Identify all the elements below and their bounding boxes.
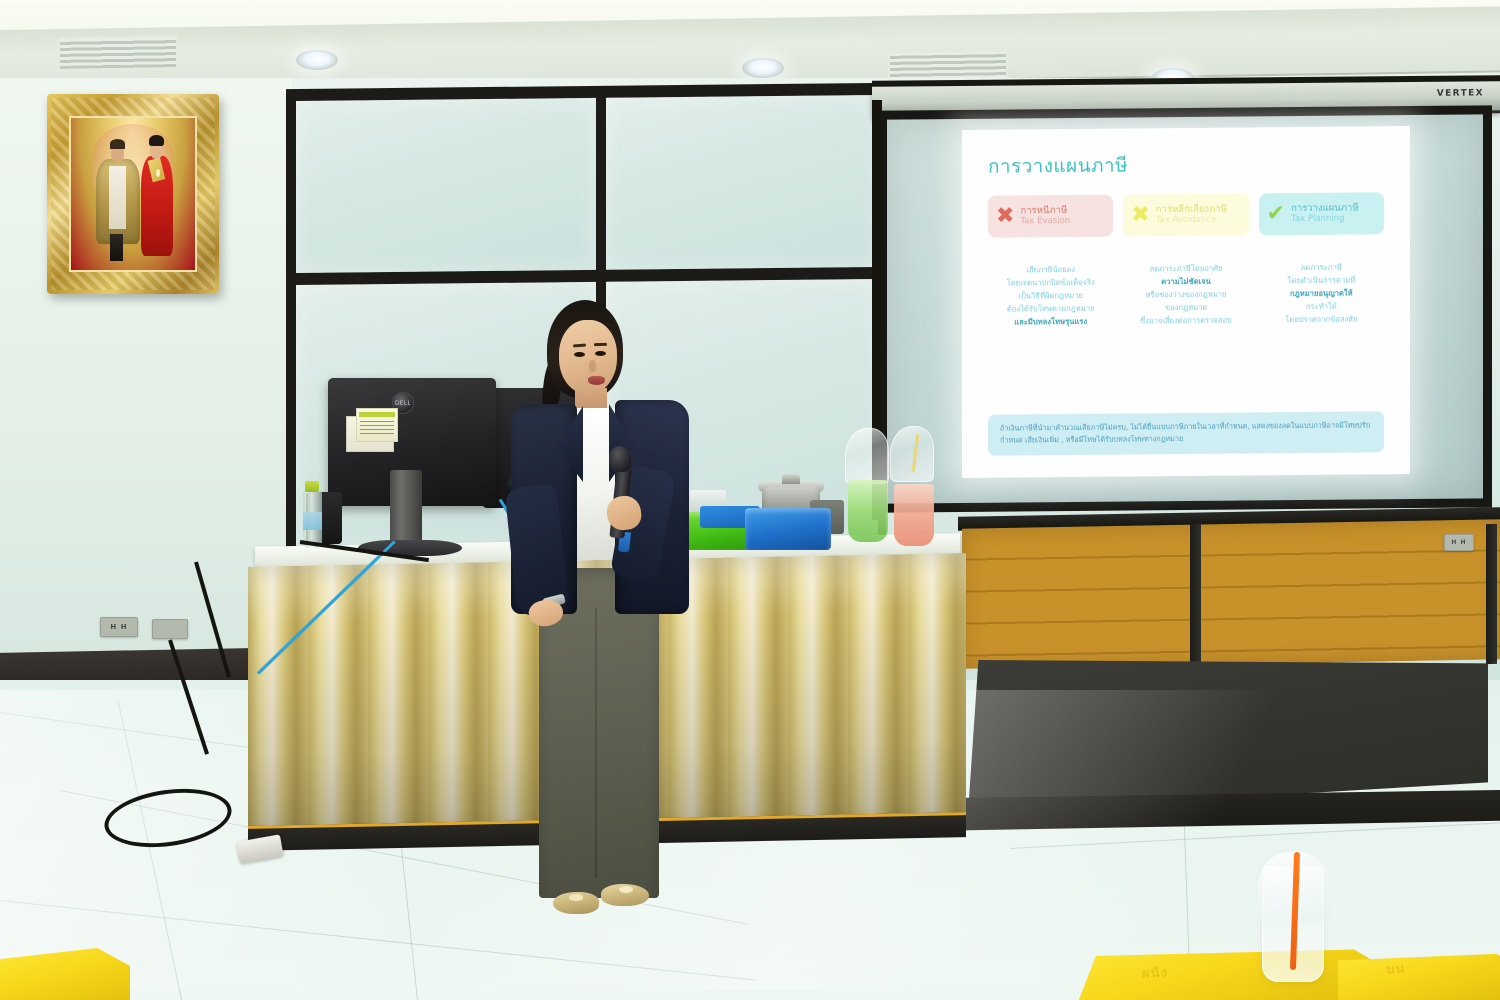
- plastic-bag-pink: [890, 426, 934, 482]
- column-line: โดยดำเนินการตามที่: [1259, 273, 1384, 287]
- wainscot-mullion-1: [1190, 524, 1201, 664]
- whiteboard-pane-1: [296, 98, 596, 273]
- column-line: เป็นวิธีที่ผิดกฎหมาย: [988, 289, 1113, 303]
- column-line: หรือช่องว่างของกฎหมาย: [1123, 288, 1248, 302]
- chip-tax-evasion-en: Tax Evasion: [1020, 217, 1070, 227]
- chip-tax-planning-en: Tax Planning: [1291, 214, 1359, 224]
- queen-figure: [139, 136, 176, 261]
- presenter-nose: [589, 360, 596, 372]
- presenter-face: [559, 320, 617, 394]
- wall-outlet-left-2[interactable]: [152, 619, 188, 639]
- shoe-bow-right: [619, 886, 633, 893]
- monitor-stand: [390, 470, 422, 548]
- chair-label-1: ผนัง: [1141, 961, 1168, 983]
- seminar-room-photo: VERTEX การวางแผนภาษี ✖ การหนีภาษี Tax Ev…: [0, 0, 1500, 1000]
- presenter-mouth: [588, 376, 605, 385]
- slide-title: การวางแผนภาษี: [988, 148, 1384, 181]
- check-icon: ✔: [1267, 203, 1285, 225]
- water-bottle-label: [303, 512, 322, 530]
- column-line: ลดภาระภาษี: [1259, 260, 1384, 274]
- air-vent-left: [58, 35, 178, 71]
- wall-outlet-right[interactable]: H H: [1444, 534, 1474, 551]
- wood-wainscot-panel: [962, 519, 1500, 668]
- wall-outlet-left-1[interactable]: H H: [100, 617, 138, 637]
- slide-chip-row: ✖ การหนีภาษี Tax Evasion ✖ การหลีกเลี่ยง…: [988, 192, 1384, 237]
- blue-container: [745, 508, 831, 550]
- chip-tax-evasion: ✖ การหนีภาษี Tax Evasion: [988, 195, 1113, 238]
- chip-tax-avoidance-en: Tax Avoidance: [1156, 215, 1227, 225]
- king-shirt: [109, 166, 126, 229]
- column-line: โดยปราศจากข้อสงสัย: [1259, 312, 1384, 326]
- portrait-canvas: [69, 116, 197, 272]
- slide-note-box: ถ้าเงินภาษีที่นำมาคำนวณเสียภาษีไม่ครบ, ไ…: [988, 411, 1384, 456]
- queen-hair: [149, 135, 164, 146]
- presenter: [495, 300, 710, 960]
- column-line-highlight: และมีบทลงโทษรุนแรง: [988, 315, 1113, 329]
- downlight-1: [296, 50, 338, 70]
- king-figure: [96, 139, 141, 261]
- outlet-label: H H: [110, 623, 127, 631]
- column-line: ต้องได้รับโทษตามกฎหมาย: [988, 302, 1113, 316]
- chip-tax-planning: ✔ การวางแผนภาษี Tax Planning: [1259, 192, 1384, 235]
- presenter-eyebrow-right: [594, 343, 607, 346]
- outlet-label: H H: [1451, 539, 1466, 546]
- presenter-eye-right: [595, 351, 606, 356]
- chair-label-2: บน: [1385, 958, 1405, 980]
- cross-icon: ✖: [1131, 204, 1149, 226]
- slide-column-2: ลดภาระภาษีโดยอาศัย ความไม่ชัดเจน หรือช่อ…: [1123, 261, 1248, 327]
- metal-pot-knob: [782, 474, 800, 484]
- slide-column-row: เสียภาษีน้อยลง โดยเจตนาปกปิดข้อเท็จจริง …: [988, 260, 1384, 329]
- column-line-highlight: ความไม่ชัดเจน: [1123, 275, 1248, 289]
- water-bottle-cap: [305, 481, 319, 492]
- shoe-bow-left: [569, 894, 583, 901]
- column-line-highlight: กฎหมายอนุญาตให้: [1259, 286, 1384, 300]
- wainscot-mullion-2: [1486, 524, 1497, 664]
- column-line: เสียภาษีน้อยลง: [988, 263, 1113, 277]
- column-line: ของกฎหมาย: [1123, 301, 1248, 315]
- whiteboard-pane-2: [606, 95, 878, 270]
- king-hair: [110, 139, 125, 149]
- pink-drink-cup: [894, 484, 934, 546]
- column-line: ลดภาระภาษีโดยอาศัย: [1123, 261, 1248, 275]
- monitor-sticker-green: [356, 408, 398, 442]
- column-line: กระทำได้: [1259, 299, 1384, 313]
- microphone-head: [609, 446, 631, 472]
- king-legs: [110, 234, 123, 261]
- slide-content: การวางแผนภาษี ✖ การหนีภาษี Tax Evasion ✖…: [962, 126, 1410, 478]
- slide-note-line-2: กำหนด เสียเงินเพิ่ม , หรือมีโทษได้รับบทล…: [1000, 432, 1372, 448]
- royal-portrait: [47, 94, 219, 294]
- dell-logo-text: DELL: [395, 400, 411, 407]
- cross-icon: ✖: [996, 205, 1014, 227]
- green-drink-cup: [848, 480, 888, 542]
- column-line: ซึ่งอาจเสี่ยงต่อการตรวจสอบ: [1123, 314, 1248, 328]
- column-line: โดยเจตนาปกปิดข้อเท็จจริง: [988, 276, 1113, 290]
- chip-tax-avoidance: ✖ การหลีกเลี่ยงภาษี Tax Avoidance: [1123, 193, 1248, 236]
- presenter-eye-left: [574, 352, 585, 357]
- slide-column-1: เสียภาษีน้อยลง โดยเจตนาปกปิดข้อเท็จจริง …: [988, 263, 1113, 329]
- slide-column-3: ลดภาระภาษี โดยดำเนินการตามที่ กฎหมายอนุญ…: [1259, 260, 1384, 326]
- projector-brand-label: VERTEX: [1437, 88, 1484, 98]
- downlight-2: [742, 58, 784, 78]
- plastic-bag-green: [845, 428, 889, 484]
